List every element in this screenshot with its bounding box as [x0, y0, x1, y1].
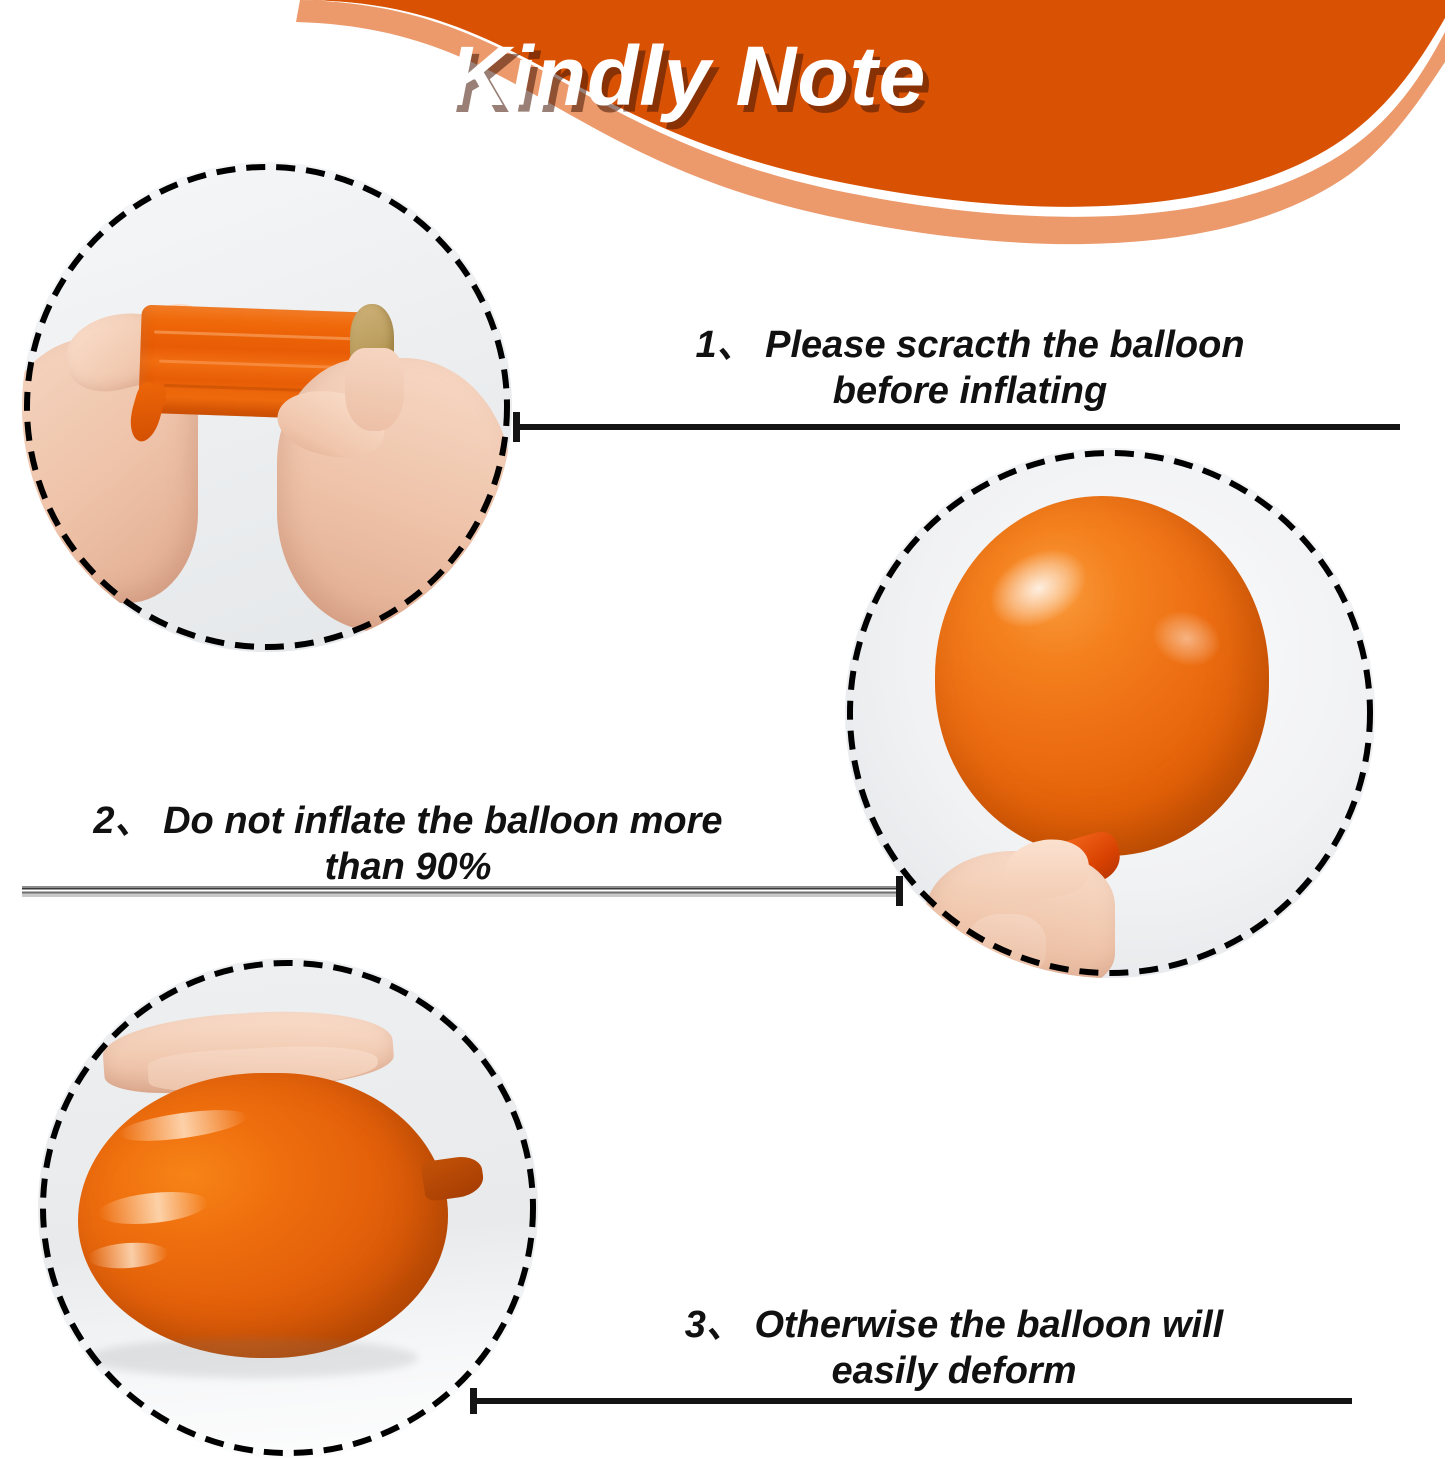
connector-line-1	[513, 424, 1400, 430]
right-index-finger	[345, 348, 404, 431]
kindly-note-infographic: Kindly Note	[0, 0, 1445, 1471]
note-text-3: 3、 Otherwise the balloon will easily def…	[614, 1302, 1294, 1395]
photo-deformed-balloon	[38, 958, 538, 1458]
inflated-balloon	[935, 496, 1269, 856]
connector-line-3-cap	[470, 1388, 477, 1414]
connector-line-2	[22, 886, 902, 897]
page-title: Kindly Note	[0, 28, 1445, 125]
connector-line-1-cap	[513, 412, 520, 442]
connector-line-2-cap	[896, 876, 903, 906]
note-text-1: 1、 Please scracth the balloon before inf…	[640, 322, 1300, 415]
photo-inflated-balloon	[845, 448, 1375, 978]
note-text-2: 2、 Do not inflate the balloon more than …	[48, 798, 768, 891]
photo-stretch-balloon	[22, 162, 512, 652]
holding-thumb	[967, 914, 1047, 978]
photo-inflated-balloon-image	[845, 448, 1375, 978]
photo-stretch-balloon-image	[22, 162, 512, 652]
balloon-shadow	[88, 1338, 418, 1378]
photo-deformed-balloon-image	[38, 958, 538, 1458]
connector-line-3	[470, 1398, 1352, 1404]
